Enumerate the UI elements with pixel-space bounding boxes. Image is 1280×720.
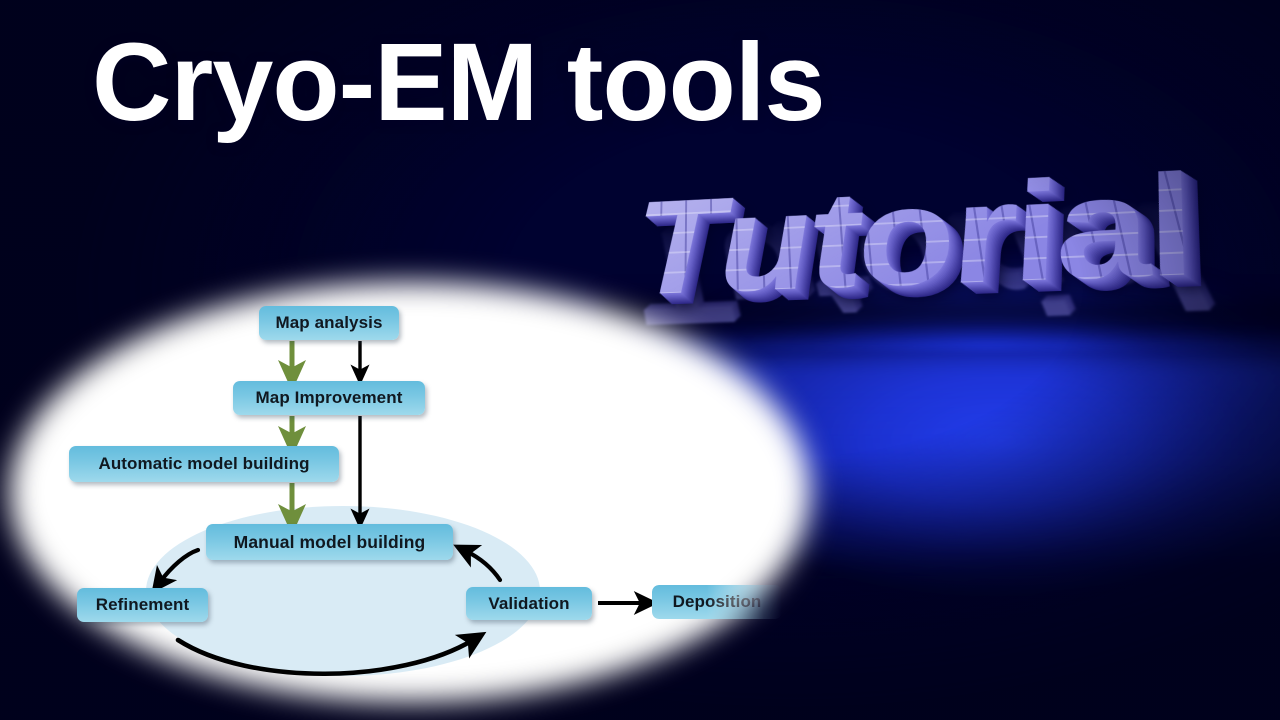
node-map-analysis[interactable]: Map analysis xyxy=(259,306,399,340)
node-deposition[interactable]: Deposition xyxy=(652,585,782,619)
node-map-improvement[interactable]: Map Improvement xyxy=(233,381,425,415)
node-automatic-model-building[interactable]: Automatic model building xyxy=(69,446,339,482)
node-validation[interactable]: Validation xyxy=(466,587,592,620)
cryoem-workflow-diagram: Map analysis Map Improvement Automatic m… xyxy=(0,0,1280,720)
slide-canvas: Tutorial Tutorial Tutorial Cryo-EM tools xyxy=(0,0,1280,720)
node-refinement[interactable]: Refinement xyxy=(77,588,208,622)
node-manual-model-building[interactable]: Manual model building xyxy=(206,524,453,560)
